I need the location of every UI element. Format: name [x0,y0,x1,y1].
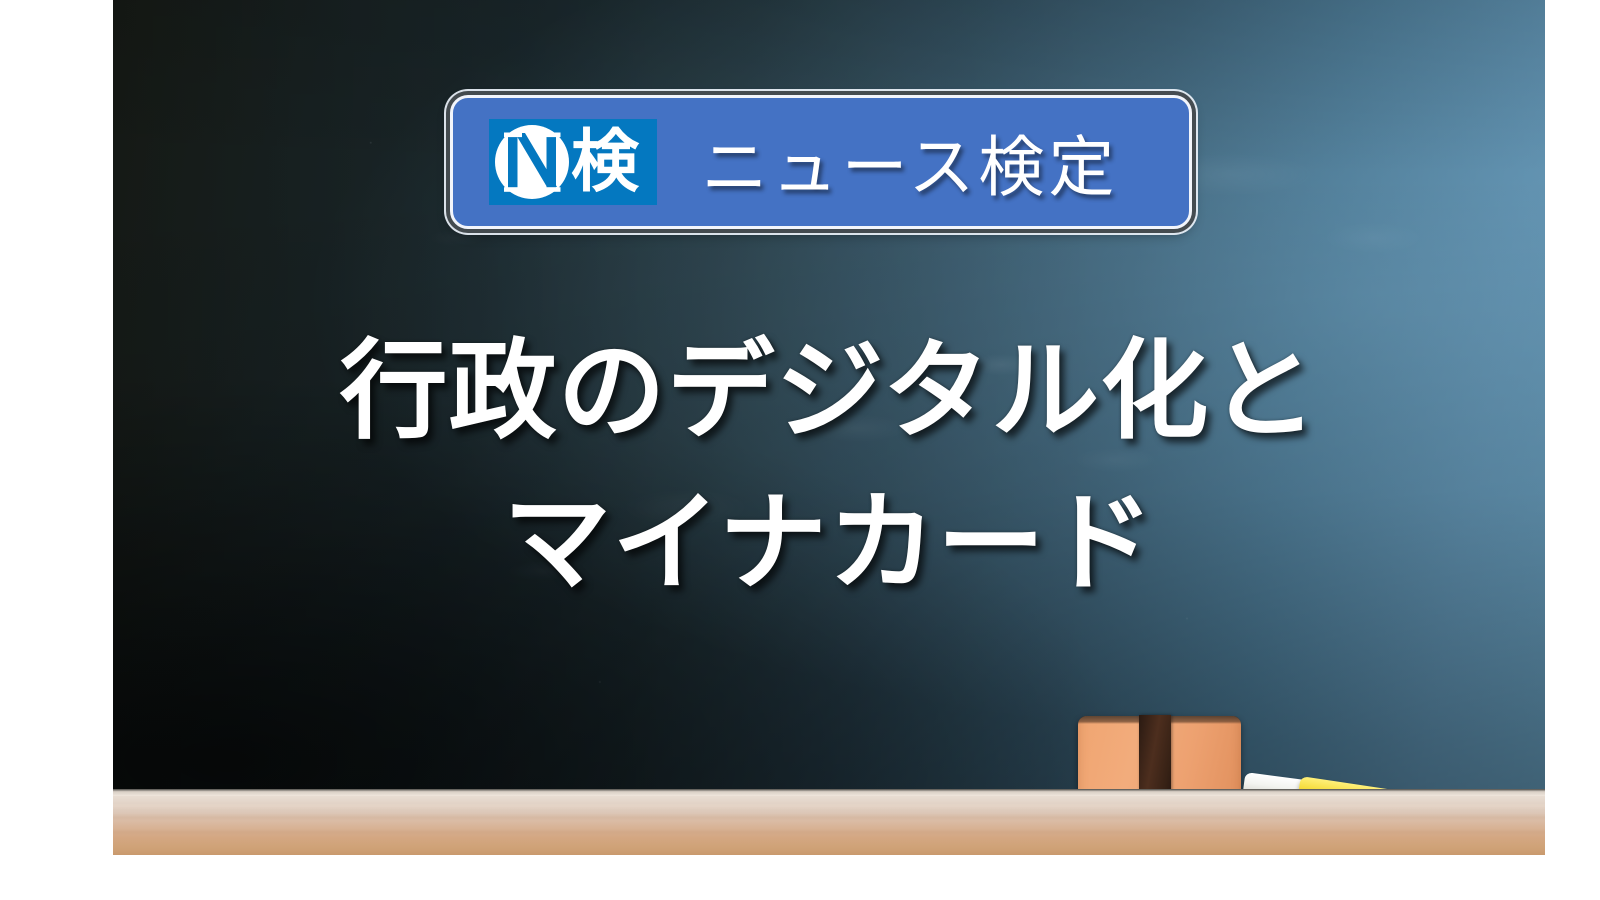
n-ken-logo-block: 検 [489,119,657,205]
slide-title-line-2: マイナカード [113,468,1545,620]
slide-canvas: 検 ニュース検定 行政のデジタル化と マイナカード [0,0,1600,900]
wooden-chalk-ledge [113,789,1545,855]
slide-title: 行政のデジタル化と マイナカード [113,316,1545,620]
news-kentei-badge: 検 ニュース検定 [450,95,1192,229]
n-ken-circle-logo-icon [491,121,573,203]
ledge-wood-grain [113,796,1545,855]
badge-brand-text: ニュース検定 [657,114,1189,210]
ledge-lip [113,789,1545,796]
logo-kanji-ken: 検 [571,121,639,203]
slide-title-line-1: 行政のデジタル化と [113,316,1545,468]
